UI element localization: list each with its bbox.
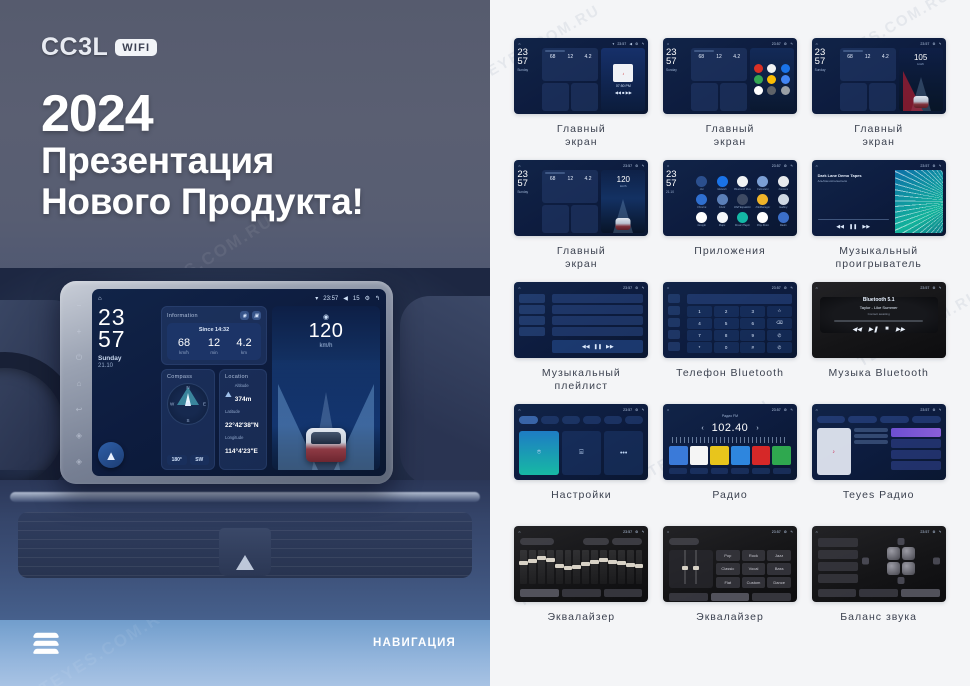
compass-mark-e: E <box>203 402 206 407</box>
hero-title-line2: Нового Продукта! <box>41 182 364 223</box>
preset-jazz: Jazz <box>767 550 791 561</box>
screens-grid-panel: TEYES.COM.RU TEYES.COM.RU TEYES.COM.RU T… <box>490 0 970 686</box>
hud-speed-panel[interactable]: ◉ 120 km/h <box>272 306 380 470</box>
radio-band: Радио FM <box>666 414 794 418</box>
grid-cell[interactable]: ⌂23:57⚙↰ 2357Sunday 68124.2 120km/h Глав… <box>512 160 651 280</box>
tab-balance <box>711 593 750 601</box>
app-calculator[interactable]: Calculator <box>754 176 771 191</box>
balance-up-button[interactable] <box>897 538 904 545</box>
balance-down-button[interactable] <box>897 577 904 584</box>
thumb-caption: Главныйэкран <box>557 245 606 271</box>
tab-eq <box>520 589 559 597</box>
app-chrome[interactable]: Chrome <box>693 194 710 209</box>
preset-button <box>583 538 609 545</box>
car-head-unit: − + ⏻ ⌂ ↩ ◈ ◈ ⌂ ▾ 23:57 ◀ 15 ⚙ ↰ <box>60 281 393 484</box>
presentation-slide: TEYES.COM.RU TEYES.COM.RU TEYES.COM.RU C… <box>0 0 970 686</box>
hud-speed-unit: km/h <box>272 343 380 349</box>
tool-search <box>690 468 708 474</box>
progress-bar[interactable] <box>834 320 924 322</box>
app-icon-chrome <box>767 64 776 73</box>
radio-presets[interactable] <box>666 446 794 465</box>
thumb-home-screen-hud[interactable]: ⌂23:57⚙↰ 2357Sunday 68124.2 120km/h <box>514 160 648 236</box>
speaker-icon <box>902 547 915 560</box>
thumb-caption: Главныйэкран <box>854 123 903 149</box>
hero-footer: НАВИГАЦИЯ <box>0 628 490 658</box>
head-unit-button-rail[interactable]: − + ⏻ ⌂ ↩ ◈ ◈ <box>69 301 89 466</box>
home-icon: ⌂ <box>518 408 520 412</box>
grid-cell[interactable]: ⌂23:57⚙↰ ◀◀❚❚▶▶ Музыкальныйплейлист <box>512 282 651 402</box>
status-time: 23:57 <box>920 530 929 534</box>
back-arrow-icon: ↰ <box>790 164 793 168</box>
band-slider <box>556 550 563 584</box>
dialpad-panel[interactable]: 123☆ 456⌫ 789✆ *0#✆ <box>685 292 794 355</box>
app-shortcuts-panel[interactable] <box>750 48 794 111</box>
road-visualization <box>272 360 380 470</box>
sidebar-item-search <box>668 318 680 327</box>
preset-4 <box>731 446 750 465</box>
equalizer-header[interactable] <box>517 536 645 547</box>
equalizer-tabs[interactable] <box>517 587 645 599</box>
compass-dial: N E S W <box>167 383 209 425</box>
preset-3 <box>710 446 729 465</box>
tab-balance <box>859 589 898 597</box>
gear-icon[interactable]: ⚙ <box>365 295 370 302</box>
volume-down-button[interactable]: − <box>75 301 84 310</box>
clock-widget: 23 57 Sunday 21.10 <box>98 306 156 369</box>
app-network[interactable]: Network <box>713 176 730 191</box>
band-slider <box>591 550 598 584</box>
thumb-music-playlist[interactable]: ⌂23:57⚙↰ ◀◀❚❚▶▶ <box>514 282 648 358</box>
grid-cell[interactable]: ⌂23:57⚙↰ 123☆ 456⌫ 789✆ *0#✆ <box>661 282 800 402</box>
status-time: 23:57 <box>920 164 929 168</box>
app-dsp-equalizer[interactable]: DSP Equalizer <box>734 194 751 209</box>
tab-about <box>625 416 643 424</box>
key-8: 8 <box>714 330 739 341</box>
preset-flat: Flat <box>716 577 740 588</box>
player-controls[interactable]: ◀◀▶❚■▶▶ <box>852 326 905 333</box>
back-arrow-icon: ↰ <box>939 42 942 46</box>
thumb-caption: Teyes Радио <box>843 489 915 502</box>
pause-icon: ❚❚ <box>849 224 857 230</box>
app-bluetooth-music[interactable]: Bluetooth Mus <box>734 176 751 191</box>
slider-right <box>695 550 697 584</box>
power-button[interactable]: ⏻ <box>75 353 84 362</box>
preset-front <box>818 538 858 547</box>
card-icon[interactable]: ▣ <box>252 311 261 320</box>
app-play-store[interactable]: Play Store <box>754 212 771 227</box>
balance-pad[interactable] <box>862 538 940 584</box>
back-button[interactable]: ↩ <box>75 405 84 414</box>
key-1: 1 <box>687 306 712 317</box>
clock-widget: 235721.10 <box>666 170 688 233</box>
back-arrow-icon: ↰ <box>641 408 644 412</box>
back-arrow-icon: ↰ <box>939 164 942 168</box>
grid-cell[interactable]: ⌂23:57⚙↰ Радио FM ‹ 102.40 › <box>661 404 800 524</box>
preset-left <box>818 562 858 571</box>
album-cover: ♪ <box>613 64 633 82</box>
gear-icon: ⚙ <box>932 42 935 46</box>
teyes-tabs[interactable] <box>815 414 943 425</box>
thumb-caption: Музыка Bluetooth <box>828 367 928 380</box>
clock-date: 21.10 <box>98 363 156 369</box>
equalizer-tabs[interactable] <box>815 587 943 599</box>
call-icon-2: ✆ <box>767 342 792 353</box>
back-arrow-icon: ↰ <box>939 286 942 290</box>
status-time: 23:57 <box>617 42 626 46</box>
grid-cell[interactable]: ⌂23:57⚙↰ <box>809 526 948 646</box>
speaker-icon <box>887 562 900 575</box>
tab-effects <box>752 593 791 601</box>
thumb-home-screen-speed[interactable]: ⌂23:57⚙↰ 2357Sunday 68124.2 105km/h <box>812 38 946 114</box>
app-avi[interactable]: Avi <box>693 176 710 191</box>
status-time: 23:57 <box>623 164 632 168</box>
mute-button[interactable]: ◈ <box>75 457 84 466</box>
band-slider <box>627 550 634 584</box>
location-title: Location <box>225 374 261 380</box>
thumb-home-screen-apps[interactable]: ⌂23:57⚙↰ 2357Sunday 68124.2 <box>663 38 797 114</box>
tab-eq <box>818 589 857 597</box>
gear-icon: ⚙ <box>784 286 787 290</box>
more-icon[interactable]: ••• <box>604 431 643 475</box>
app-icon-youtube <box>754 64 763 73</box>
preset-rock: Rock <box>742 550 766 561</box>
home-icon: ⌂ <box>816 408 818 412</box>
tool-more <box>752 468 770 474</box>
home-button[interactable]: ⌂ <box>75 379 84 388</box>
product-logo: CC3L WIFI <box>41 33 157 62</box>
layers-icon <box>34 632 58 654</box>
tab-system <box>604 416 622 424</box>
back-arrow-icon: ↰ <box>641 286 644 290</box>
status-volume: 15 <box>353 296 360 302</box>
phone-sidebar[interactable] <box>666 292 682 355</box>
settings-cards[interactable]: ⌾ ⌸ ••• <box>517 429 645 477</box>
clock-widget: 2357Sunday <box>517 170 539 233</box>
sidebar-item-history <box>668 330 680 339</box>
station-list[interactable] <box>891 428 941 475</box>
sidebar-item-albums <box>519 316 545 325</box>
grid-cell[interactable]: ⌂23:57⚙↰ 235721.10 Avi Network Bluetooth… <box>661 160 800 280</box>
hero-panel: TEYES.COM.RU TEYES.COM.RU TEYES.COM.RU C… <box>0 0 490 686</box>
radio-frequency: 102.40 <box>712 422 749 434</box>
altitude-label: Altitude <box>235 383 252 388</box>
dialpad-keys[interactable]: 123☆ 456⌫ 789✆ *0#✆ <box>687 306 792 353</box>
app-google[interactable]: Google <box>693 212 710 227</box>
gauge-icon[interactable]: ◉ <box>240 311 249 320</box>
level-sliders[interactable] <box>669 550 713 588</box>
prev-icon[interactable]: ‹ <box>701 425 703 432</box>
tab-genres <box>848 416 877 423</box>
navigation-arrow-icon[interactable]: ▲ <box>98 442 124 468</box>
settings-tabs[interactable] <box>517 414 645 426</box>
gear-icon: ⚙ <box>932 286 935 290</box>
app-icon-playstore <box>754 86 763 95</box>
location-widget[interactable]: Location ⛰ Altitude 374m Latitude <box>219 369 267 470</box>
playlist-sidebar[interactable] <box>517 292 547 355</box>
thumb-caption: Баланс звука <box>840 611 917 624</box>
speaker-icon <box>902 562 915 575</box>
thumb-caption: Эквалайзер <box>548 611 616 624</box>
slider-left <box>684 550 686 584</box>
preset-grid[interactable]: PopRockJazz ClassicVocalBass FlatCustomD… <box>716 550 791 588</box>
playlist-rows[interactable]: ◀◀❚❚▶▶ <box>550 292 645 355</box>
balance-presets[interactable] <box>818 538 858 584</box>
gear-icon: ⚙ <box>932 408 935 412</box>
logo-model-text: CC3L <box>41 33 108 62</box>
home-icon: ⌂ <box>518 286 520 290</box>
home-icon: ⌂ <box>667 286 669 290</box>
gear-icon: ⚙ <box>932 530 935 534</box>
altitude-value: 374m <box>235 396 252 403</box>
thumb-caption: Радио <box>712 489 747 502</box>
back-arrow-icon[interactable]: ↰ <box>375 295 380 302</box>
back-arrow-icon: ↰ <box>790 408 793 412</box>
thumb-caption: Главныйэкран <box>557 123 606 149</box>
key-6: 6 <box>740 318 765 329</box>
carplay-icon[interactable]: ⌸ <box>562 431 601 475</box>
hazard-light-button[interactable] <box>219 528 271 576</box>
speaker-quad <box>887 547 915 575</box>
band-slider <box>600 550 607 584</box>
mode-button[interactable]: ◈ <box>75 431 84 440</box>
band-slider <box>618 550 625 584</box>
media-widget[interactable]: ♪07:50 PM◀◀ ■ ▶▶ <box>601 48 645 111</box>
hud-speed-unit: km/h <box>917 62 924 66</box>
thumb-radio[interactable]: ⌂23:57⚙↰ Радио FM ‹ 102.40 › <box>663 404 797 480</box>
track-title: Dark Lane Demo Tapes <box>818 173 889 178</box>
trip-stats: Since 14:32 68 km/h 12 min <box>167 323 261 360</box>
application-grid[interactable]: Avi Network Bluetooth Mus Calculator Cam… <box>691 170 794 233</box>
app-camera[interactable]: Camera <box>775 176 792 191</box>
app-maps[interactable]: Maps <box>713 212 730 227</box>
band-slider <box>538 550 545 584</box>
home-icon: ⌂ <box>816 42 818 46</box>
back-arrow-icon: ↰ <box>641 42 644 46</box>
key-2: 2 <box>714 306 739 317</box>
hero-title-block: 2024 Презентация Нового Продукта! <box>41 88 364 222</box>
tab-display <box>562 416 580 424</box>
grid-cell[interactable]: ⌂23:57⚙↰ Dark Lane Demo Tapes Альбом исп… <box>809 160 948 280</box>
wifi-icon[interactable]: ⌾ <box>519 431 558 475</box>
gear-icon: ⚙ <box>932 164 935 168</box>
grid-cell[interactable]: ⌂23:57⚙↰ Bluetooth 5.1 Taylor - Like Sum… <box>809 282 948 402</box>
preset-vocal: Vocal <box>742 563 766 574</box>
prev-icon: ◀◀ <box>852 326 861 333</box>
player-controls[interactable]: ◀◀❚❚▶▶ <box>818 224 889 230</box>
backspace-icon: ⌫ <box>767 318 792 329</box>
status-time: 23:57 <box>920 286 929 290</box>
thumb-caption: Настройки <box>551 489 612 502</box>
thumb-caption: Эквалайзер <box>696 611 764 624</box>
next-icon: ▶▶ <box>896 326 905 333</box>
sidebar-item-folders <box>519 327 545 336</box>
radio-tuner[interactable]: ‹ 102.40 › <box>666 419 794 434</box>
thumb-applications[interactable]: ⌂23:57⚙↰ 235721.10 Avi Network Bluetooth… <box>663 160 797 236</box>
grid-cell[interactable]: ⌂23:57⚙↰ ⌾ ⌸ ••• Настройки <box>512 404 651 524</box>
lead-car-icon <box>616 218 631 230</box>
preset-6 <box>772 446 791 465</box>
tool-band <box>669 468 687 474</box>
clock-minutes: 57 <box>98 328 156 350</box>
home-icon: ⌂ <box>667 530 669 534</box>
clock-weekday: Sunday <box>98 355 156 362</box>
lead-car-icon <box>306 428 346 462</box>
hero-year: 2024 <box>41 88 364 141</box>
hud-speed-panel[interactable]: 120km/h <box>601 170 645 233</box>
status-time: 23:57 <box>772 164 781 168</box>
navigation-label: НАВИГАЦИЯ <box>373 637 456 649</box>
gear-icon: ⚙ <box>784 408 787 412</box>
tool-settings <box>773 468 791 474</box>
back-arrow-icon: ↰ <box>939 408 942 412</box>
home-icon: ⌂ <box>667 42 669 46</box>
status-time: 23:57 <box>920 408 929 412</box>
gear-icon: ⚙ <box>635 286 638 290</box>
preset-custom: Custom <box>742 577 766 588</box>
play-icon: ▶❚ <box>869 326 879 333</box>
volume-icon: ◀ <box>629 42 632 46</box>
trip-speed-unit: km/h <box>169 350 199 355</box>
grid-cell[interactable]: ⌂23:57⚙↰ PopRockJazz ClassicVocalBass Fl… <box>661 526 800 646</box>
clock-widget: 2357Sunday <box>666 48 688 111</box>
next-icon: ▶▶ <box>606 344 614 350</box>
list-item <box>891 461 941 470</box>
hud-speed-panel[interactable]: 105km/h <box>899 48 943 111</box>
tab-effects <box>901 589 940 597</box>
trip-distance-unit: km <box>229 350 259 355</box>
compass-direction: SW <box>190 455 210 465</box>
longitude-label: Longitude <box>225 435 261 440</box>
home-icon[interactable]: ⌂ <box>98 296 102 302</box>
balance-right-button[interactable] <box>933 558 940 565</box>
grid-cell[interactable]: ⌂23:57⚙↰ ♪ Teyes Радио <box>809 404 948 524</box>
sidebar-item-dialpad <box>668 294 680 303</box>
wifi-icon: ▾ <box>315 295 318 302</box>
preset-bass: Bass <box>767 563 791 574</box>
grid-cell[interactable]: ⌂23:57⚙↰ 2357Sunday 68124.2 Главныйэкран <box>661 38 800 158</box>
list-item <box>891 439 941 448</box>
information-title: Information <box>167 313 198 319</box>
band-slider <box>582 550 589 584</box>
thumb-teyes-radio[interactable]: ⌂23:57⚙↰ ♪ <box>812 404 946 480</box>
status-time: 23:57 <box>623 530 632 534</box>
player-info: Dark Lane Demo Tapes Альбом исполнителя … <box>815 170 892 233</box>
trip-since-label: Since 14:32 <box>169 327 259 333</box>
thumb-settings[interactable]: ⌂23:57⚙↰ ⌾ ⌸ ••• <box>514 404 648 480</box>
list-item <box>552 327 643 336</box>
band-slider <box>573 550 580 584</box>
thumb-equalizer-presets[interactable]: ⌂23:57⚙↰ PopRockJazz ClassicVocalBass Fl… <box>663 526 797 602</box>
tool-list <box>711 468 729 474</box>
grid-cell[interactable]: ⌂▾23:57◀⚙↰ 2357Sunday 68124.2 ♪07:50 PM◀… <box>512 38 651 158</box>
app-radio[interactable]: Radio <box>775 212 792 227</box>
volume-icon: ◀ <box>343 295 348 302</box>
key-hash: # <box>740 342 765 353</box>
progress-bar[interactable] <box>818 219 889 221</box>
thumb-bluetooth-music[interactable]: ⌂23:57⚙↰ Bluetooth 5.1 Taylor - Like Sum… <box>812 282 946 358</box>
trip-distance-value: 4.2 <box>229 337 259 349</box>
app-clock[interactable]: Clock <box>713 194 730 209</box>
now-playing-bar[interactable]: ◀◀❚❚▶▶ <box>552 340 643 353</box>
equalizer-tabs[interactable] <box>666 591 794 602</box>
speaker-icon <box>887 547 900 560</box>
status-bar: ⌂ ▾ 23:57 ◀ 15 ⚙ ↰ <box>92 292 386 305</box>
list-item <box>552 305 643 314</box>
home-icon: ⌂ <box>667 164 669 168</box>
app-icon-gallery <box>767 75 776 84</box>
track-artist: Contact awaiting <box>868 312 890 316</box>
information-widget[interactable]: Information ◉ ▣ Since 14:32 <box>161 306 267 365</box>
band-slider <box>565 550 572 584</box>
compass-title: Compass <box>167 374 209 380</box>
app-gallery[interactable]: Gallery <box>775 194 792 209</box>
back-arrow-icon: ↰ <box>641 164 644 168</box>
air-vent-right <box>400 296 490 486</box>
track-title: Taylor - Like Summer <box>860 305 898 310</box>
preset-right <box>818 574 858 583</box>
app-filemanager[interactable]: FileManager <box>754 194 771 209</box>
compass-mark-n: N <box>186 385 189 390</box>
thumb-music-player[interactable]: ⌂23:57⚙↰ Dark Lane Demo Tapes Альбом исп… <box>812 160 946 236</box>
trip-time-unit: min <box>199 350 229 355</box>
compass-widget[interactable]: Compass N E S W <box>161 369 215 470</box>
thumb-sound-balance[interactable]: ⌂23:57⚙↰ <box>812 526 946 602</box>
next-icon: ▶▶ <box>862 224 870 230</box>
status-time: 23:57 <box>623 408 632 412</box>
radio-toolbar[interactable] <box>666 466 794 476</box>
grid-cell[interactable]: ⌂23:57⚙↰ 2357Sunday 68124.2 105km/h Глав… <box>809 38 948 158</box>
key-star: * <box>687 342 712 353</box>
station-cover: ♪ <box>817 428 851 475</box>
app-music-player[interactable]: Music Player <box>734 212 751 227</box>
volume-up-button[interactable]: + <box>75 327 84 336</box>
balance-left-button[interactable] <box>862 558 869 565</box>
compass-heading: 180° <box>167 455 187 465</box>
home-icon: ⌂ <box>667 408 669 412</box>
compass-mark-w: W <box>170 402 174 407</box>
next-icon[interactable]: › <box>756 425 758 432</box>
status-time: 23:57 <box>623 286 632 290</box>
trip-time-value: 12 <box>199 337 229 349</box>
hud-speed-unit: km/h <box>620 184 627 188</box>
phone-number-field[interactable] <box>687 294 792 304</box>
gear-icon: ⚙ <box>635 530 638 534</box>
favorite-icon: ☆ <box>767 306 792 317</box>
key-0: 0 <box>714 342 739 353</box>
back-arrow-icon: ↰ <box>790 42 793 46</box>
preset-2 <box>690 446 709 465</box>
gear-icon: ⚙ <box>784 530 787 534</box>
pause-icon: ❚❚ <box>594 344 602 350</box>
preset-dance: Dance <box>767 577 791 588</box>
equalizer-sliders[interactable] <box>517 548 645 586</box>
thumb-bluetooth-phone[interactable]: ⌂23:57⚙↰ 123☆ 456⌫ 789✆ *0#✆ <box>663 282 797 358</box>
thumb-caption: Музыкальныйпроигрыватель <box>836 245 922 271</box>
band-slider <box>609 550 616 584</box>
grid-cell[interactable]: ⌂23:57⚙↰ Эквалайзер <box>512 526 651 646</box>
thumb-home-screen-media[interactable]: ⌂▾23:57◀⚙↰ 2357Sunday 68124.2 ♪07:50 PM◀… <box>514 38 648 114</box>
head-unit-screen[interactable]: ⌂ ▾ 23:57 ◀ 15 ⚙ ↰ 23 57 Sunday <box>92 289 386 476</box>
prev-icon: ◀◀ <box>836 224 844 230</box>
gear-icon: ⚙ <box>635 408 638 412</box>
thumb-equalizer-sliders[interactable]: ⌂23:57⚙↰ <box>514 526 648 602</box>
preset-5 <box>752 446 771 465</box>
app-icon-mail <box>781 75 790 84</box>
app-icon-settings <box>767 86 776 95</box>
hero-title-line1: Презентация <box>41 141 364 182</box>
frequency-scale[interactable] <box>672 437 788 443</box>
bluetooth-icon: Bluetooth 5.1 <box>863 297 895 303</box>
